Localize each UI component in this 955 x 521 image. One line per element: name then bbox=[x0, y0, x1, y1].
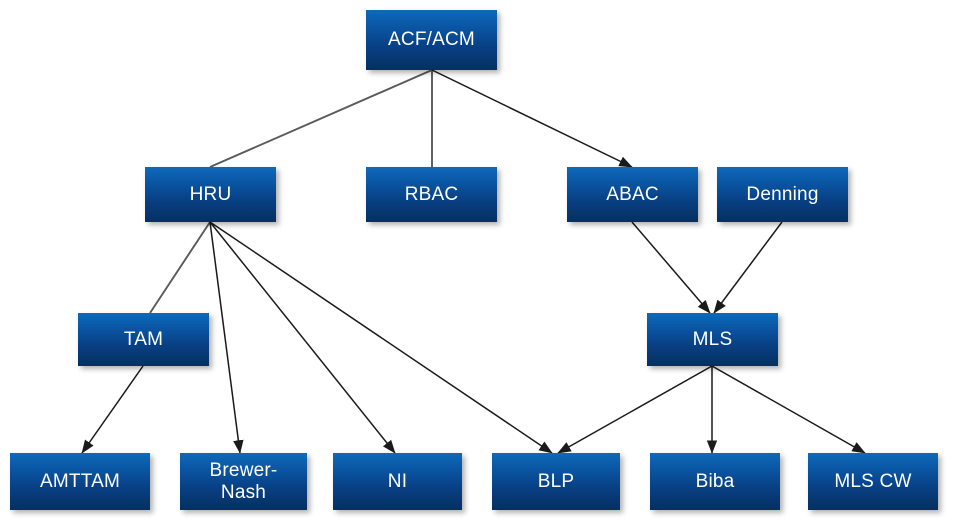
node-amttam[interactable]: AMTTAM bbox=[10, 453, 150, 510]
node-label-abac: ABAC bbox=[571, 184, 694, 205]
node-label-hru: HRU bbox=[149, 184, 272, 205]
node-label-mls_cw: MLS CW bbox=[812, 471, 934, 492]
node-label-rbac: RBAC bbox=[370, 184, 493, 205]
node-label-amttam: AMTTAM bbox=[14, 471, 146, 492]
edge-hru-to-tam bbox=[150, 222, 210, 313]
node-label-denning: Denning bbox=[721, 184, 844, 205]
node-mls[interactable]: MLS bbox=[647, 313, 778, 366]
node-denning[interactable]: Denning bbox=[717, 167, 848, 222]
node-acf_acm[interactable]: ACF/ACM bbox=[366, 10, 497, 70]
edge-denning-to-mls bbox=[714, 222, 782, 313]
node-mls_cw[interactable]: MLS CW bbox=[808, 453, 938, 510]
node-label-blp: BLP bbox=[496, 471, 616, 492]
node-label-mls: MLS bbox=[651, 329, 774, 350]
node-label-biba: Biba bbox=[654, 471, 776, 492]
node-label-acf_acm: ACF/ACM bbox=[370, 29, 493, 50]
node-label-brewer_nash: Brewer- Nash bbox=[184, 460, 303, 503]
node-label-tam: TAM bbox=[82, 329, 205, 350]
node-ni[interactable]: NI bbox=[333, 453, 462, 510]
edge-group bbox=[82, 70, 865, 453]
edge-mls-to-blp bbox=[558, 366, 712, 453]
edge-acf_acm-to-abac bbox=[432, 70, 632, 167]
edge-layer bbox=[0, 0, 955, 521]
access-control-hierarchy-diagram: ACF/ACMHRURBACABACDenningTAMMLSAMTTAMBre… bbox=[0, 0, 955, 521]
edge-hru-to-ni bbox=[210, 222, 395, 453]
node-biba[interactable]: Biba bbox=[650, 453, 780, 510]
node-brewer_nash[interactable]: Brewer- Nash bbox=[180, 453, 307, 510]
node-rbac[interactable]: RBAC bbox=[366, 167, 497, 222]
edge-tam-to-amttam bbox=[82, 366, 143, 453]
edge-hru-to-blp bbox=[210, 222, 552, 453]
edge-abac-to-mls bbox=[632, 222, 710, 313]
node-abac[interactable]: ABAC bbox=[567, 167, 698, 222]
node-tam[interactable]: TAM bbox=[78, 313, 209, 366]
node-hru[interactable]: HRU bbox=[145, 167, 276, 222]
node-blp[interactable]: BLP bbox=[492, 453, 620, 510]
edge-acf_acm-to-hru bbox=[210, 70, 432, 167]
node-label-ni: NI bbox=[337, 471, 458, 492]
edge-hru-to-brewer_nash bbox=[210, 222, 240, 453]
edge-mls-to-mls_cw bbox=[712, 366, 865, 453]
